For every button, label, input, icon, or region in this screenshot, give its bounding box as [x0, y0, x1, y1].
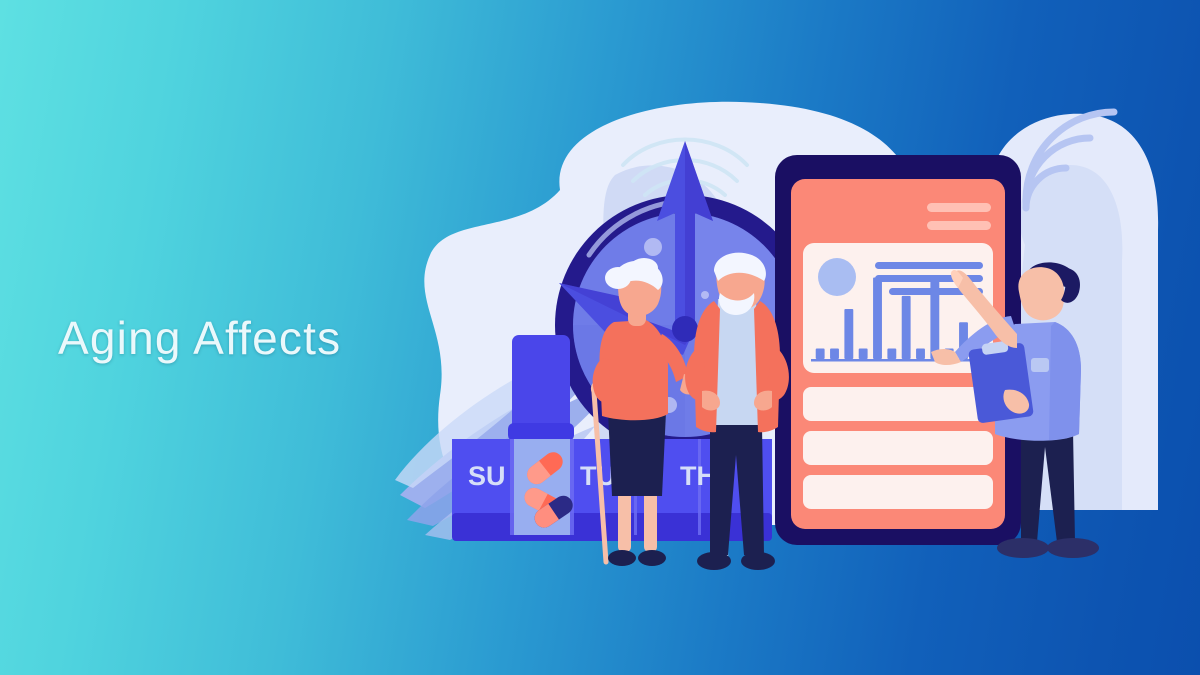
chart-bar	[930, 278, 939, 359]
chart-bar	[902, 296, 911, 359]
tablet-list-cards	[803, 387, 993, 509]
page-title: Aging Affects	[58, 309, 418, 367]
chart-bar	[816, 348, 825, 359]
chart-bar	[844, 309, 853, 359]
pointing-hand	[945, 258, 1035, 378]
pill-box-day-label: SU	[468, 461, 506, 491]
illustration-canvas: Aging Affects	[0, 0, 1200, 675]
pill-box-lid	[512, 335, 570, 435]
chart-bar	[859, 348, 868, 359]
chart-bar	[830, 348, 839, 359]
avatar	[818, 258, 856, 296]
chart-bar	[887, 348, 896, 359]
wifi-signal-icon	[1016, 108, 1106, 218]
chart-bar	[916, 348, 925, 359]
chart-bar	[873, 278, 882, 359]
elderly-man	[686, 255, 796, 585]
